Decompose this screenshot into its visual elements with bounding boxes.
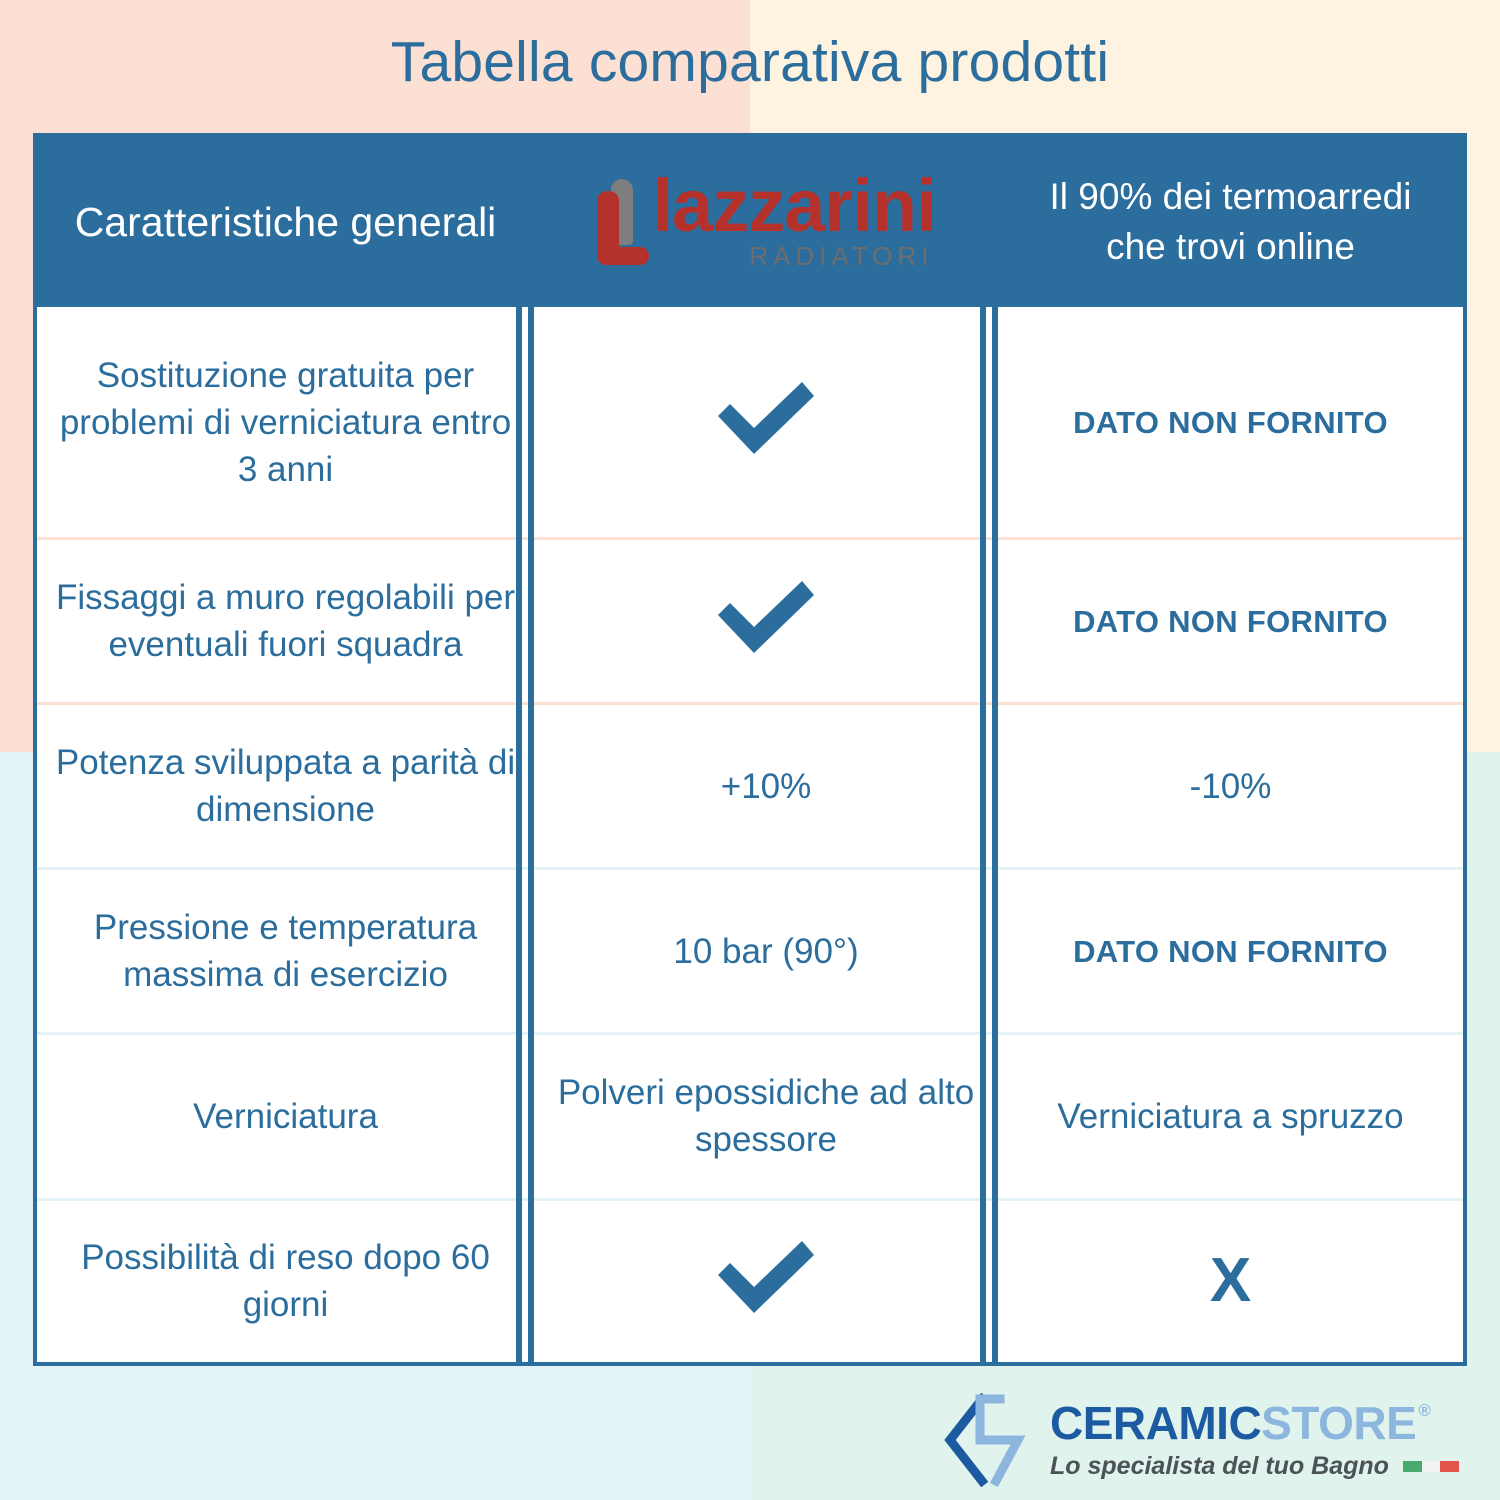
row-2-feature: Potenza sviluppata a parità di dimension… bbox=[37, 704, 534, 869]
table-row: Possibilità di reso dopo 60 giorni X bbox=[37, 1199, 1463, 1362]
logo-tagline: Lo specialista del tuo Bagno bbox=[1050, 1452, 1389, 1481]
lazzarini-wordmark: lazzarini bbox=[653, 173, 936, 240]
lazzarini-glyph-icon bbox=[597, 179, 645, 265]
header-cell-competitors: Il 90% dei termoarredi che trovi online bbox=[998, 137, 1463, 307]
table-row: Pressione e temperatura massima di eserc… bbox=[37, 869, 1463, 1034]
checkmark-icon bbox=[710, 575, 822, 655]
row-3-other-value: DATO NON FORNITO bbox=[998, 869, 1463, 1034]
row-4-feature: Verniciatura bbox=[37, 1034, 534, 1199]
checkmark-icon bbox=[710, 1235, 822, 1315]
row-5-brand-value bbox=[534, 1199, 998, 1362]
table-header-row: Caratteristiche generali lazzarini RADIA… bbox=[37, 137, 1463, 307]
row-2-other-value: -10% bbox=[998, 704, 1463, 869]
row-3-brand-value: 10 bar (90°) bbox=[534, 869, 998, 1034]
row-3-feature: Pressione e temperatura massima di eserc… bbox=[37, 869, 534, 1034]
logo-name-secondary: STORE bbox=[1261, 1400, 1416, 1446]
registered-trademark-icon: ® bbox=[1418, 1402, 1430, 1419]
row-5-other-value: X bbox=[998, 1199, 1463, 1362]
table-row: Sostituzione gratuita per problemi di ve… bbox=[37, 307, 1463, 539]
table-row: Verniciatura Polveri epossidiche ad alto… bbox=[37, 1034, 1463, 1199]
ceramicstore-logo: CERAMIC STORE ® Lo specialista del tuo B… bbox=[940, 1393, 1459, 1487]
table-row: Fissaggi a muro regolabili per eventuali… bbox=[37, 539, 1463, 704]
lazzarini-logo: lazzarini RADIATORI bbox=[534, 137, 998, 307]
italian-flag-icon bbox=[1403, 1461, 1459, 1472]
row-1-other-value: DATO NON FORNITO bbox=[998, 539, 1463, 704]
ceramicstore-chevron-icon bbox=[940, 1393, 1032, 1487]
lazzarini-subtitle: RADIATORI bbox=[749, 242, 933, 271]
logo-name-primary: CERAMIC bbox=[1050, 1400, 1261, 1446]
row-0-brand-value bbox=[534, 307, 998, 539]
table-header: Caratteristiche generali lazzarini RADIA… bbox=[37, 137, 1463, 307]
row-1-feature: Fissaggi a muro regolabili per eventuali… bbox=[37, 539, 534, 704]
row-5-feature: Possibilità di reso dopo 60 giorni bbox=[37, 1199, 534, 1362]
row-0-other-value: DATO NON FORNITO bbox=[998, 307, 1463, 539]
comparison-table: Caratteristiche generali lazzarini RADIA… bbox=[37, 137, 1463, 1362]
row-1-brand-value bbox=[534, 539, 998, 704]
table-row: Potenza sviluppata a parità di dimension… bbox=[37, 704, 1463, 869]
row-2-brand-value: +10% bbox=[534, 704, 998, 869]
header-cell-features: Caratteristiche generali bbox=[37, 137, 534, 307]
row-4-brand-value: Polveri epossidiche ad alto spessore bbox=[534, 1034, 998, 1199]
cross-icon: X bbox=[1210, 1246, 1251, 1315]
row-0-feature: Sostituzione gratuita per problemi di ve… bbox=[37, 307, 534, 539]
header-cell-brand: lazzarini RADIATORI bbox=[534, 137, 998, 307]
checkmark-icon bbox=[710, 376, 822, 456]
table-body: Sostituzione gratuita per problemi di ve… bbox=[37, 307, 1463, 1362]
row-4-other-value: Verniciatura a spruzzo bbox=[998, 1034, 1463, 1199]
comparison-table-container: Caratteristiche generali lazzarini RADIA… bbox=[33, 133, 1467, 1366]
page-title: Tabella comparativa prodotti bbox=[0, 26, 1500, 98]
